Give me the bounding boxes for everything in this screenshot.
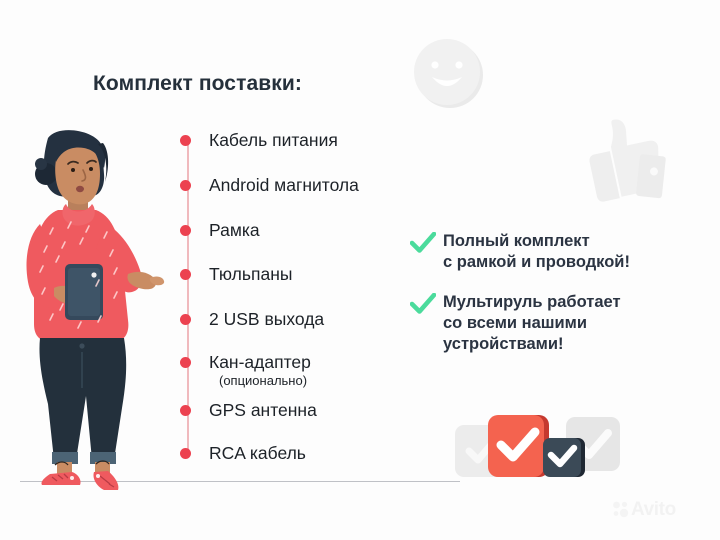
benefit-item: Полный комплект с рамкой и проводкой!: [410, 231, 700, 273]
list-item: RCA кабель: [180, 444, 306, 463]
bullet-dot-icon: [180, 180, 191, 191]
check-icon: [410, 293, 436, 315]
bullet-dot-icon: [180, 405, 191, 416]
benefit-line-1: Полный комплект: [443, 231, 630, 252]
avito-wordmark: Avito: [631, 500, 676, 519]
list-item-label: Кан-адаптер (опционально): [209, 353, 311, 388]
list-item-main-label: Кан-адаптер: [209, 352, 311, 372]
list-item-label: RCA кабель: [209, 444, 306, 463]
list-item: 2 USB выхода: [180, 310, 324, 329]
page-title: Комплект поставки:: [93, 72, 302, 96]
benefits-list: Полный комплект с рамкой и проводкой! Му…: [410, 231, 700, 355]
list-item-label: Кабель питания: [209, 131, 338, 150]
bullet-dot-icon: [180, 314, 191, 325]
list-item-label: Android магнитола: [209, 176, 359, 195]
benefit-line-2: с рамкой и проводкой!: [443, 252, 630, 273]
list-item: Тюльпаны: [180, 265, 292, 284]
benefit-text: Полный комплект с рамкой и проводкой!: [443, 231, 630, 273]
check-icon: [410, 232, 436, 254]
bullet-dot-icon: [180, 135, 191, 146]
list-item-sub-label: (опционально): [219, 373, 311, 388]
bullet-dot-icon: [180, 357, 191, 368]
thumbs-up-icon: [578, 110, 674, 210]
list-item-label: GPS антенна: [209, 401, 317, 420]
list-item-label: 2 USB выхода: [209, 310, 324, 329]
smiley-face-icon: [410, 35, 486, 111]
benefit-line-2: со всеми нашими: [443, 313, 621, 334]
list-item: Кан-адаптер (опционально): [180, 353, 311, 388]
benefit-line-1: Мультируль работает: [443, 292, 621, 313]
list-item: Рамка: [180, 221, 260, 240]
avito-logo-icon: [612, 501, 629, 518]
list-item: Android магнитола: [180, 176, 359, 195]
benefit-text: Мультируль работает со всеми нашими устр…: [443, 292, 621, 355]
benefit-line-3: устройствами!: [443, 334, 621, 355]
list-item: Кабель питания: [180, 131, 338, 150]
avito-watermark: Avito: [612, 500, 676, 519]
benefit-item: Мультируль работает со всеми нашими устр…: [410, 292, 700, 355]
list-item: GPS антенна: [180, 401, 317, 420]
woman-pointing-illustration: [10, 112, 175, 492]
list-item-label: Рамка: [209, 221, 260, 240]
bullet-dot-icon: [180, 448, 191, 459]
poster-canvas: Комплект поставки: Кабель питания Androi…: [0, 0, 720, 540]
bullet-dot-icon: [180, 225, 191, 236]
bullet-dot-icon: [180, 269, 191, 280]
checkbox-group-icon: [455, 405, 620, 490]
list-item-label: Тюльпаны: [209, 265, 292, 284]
